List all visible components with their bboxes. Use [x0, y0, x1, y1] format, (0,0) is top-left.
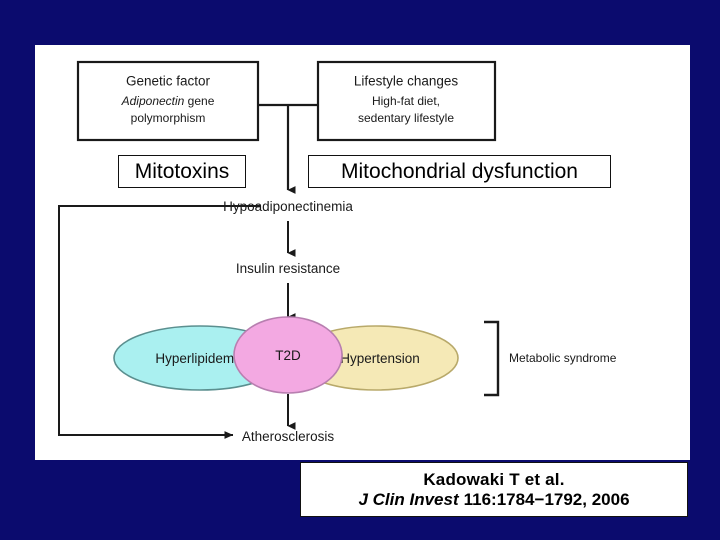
genetic-factor-gene-italic: Adiponectin — [121, 94, 185, 108]
citation-volume-pages-year: 116:1784−1792, 2006 — [464, 490, 630, 510]
feedback-loop-arrow — [59, 206, 260, 435]
slide-canvas: Genetic factor Adiponectin gene polymorp… — [0, 0, 720, 540]
citation-journal-name: J Clin Invest — [358, 490, 458, 510]
genetic-factor-gene-rest: gene — [184, 94, 214, 108]
node-insulin-resistance: Insulin resistance — [236, 261, 340, 276]
t2d-ellipse: T2D — [234, 317, 342, 393]
metabolic-syndrome-bracket — [484, 322, 498, 395]
metabolic-syndrome-bracket-group: Metabolic syndrome — [484, 322, 617, 395]
genetic-factor-heading: Genetic factor — [126, 74, 211, 89]
hypertension-label: Hypertension — [340, 351, 420, 366]
mitochondrial-dysfunction-callout-box[interactable]: Mitochondrial dysfunction — [308, 155, 611, 188]
lifestyle-changes-heading: Lifestyle changes — [354, 74, 459, 89]
pathway-diagram: Genetic factor Adiponectin gene polymorp… — [35, 45, 690, 460]
citation-box: Kadowaki T et al. J Clin Invest 116:1784… — [300, 462, 688, 517]
mitochondrial-dysfunction-label: Mitochondrial dysfunction — [341, 161, 578, 182]
metabolic-syndrome-label: Metabolic syndrome — [509, 351, 617, 365]
hyperlipidemia-label: Hyperlipidemia — [155, 351, 245, 366]
genetic-factor-box: Genetic factor Adiponectin gene polymorp… — [78, 62, 258, 140]
genetic-factor-line3: polymorphism — [131, 111, 206, 125]
citation-authors: Kadowaki T et al. — [423, 470, 564, 490]
mitotoxins-label: Mitotoxins — [135, 161, 230, 182]
t2d-label: T2D — [275, 348, 301, 363]
lifestyle-changes-line2: High-fat diet, — [372, 94, 440, 108]
citation-reference-line: J Clin Invest 116:1784−1792, 2006 — [358, 490, 629, 510]
lifestyle-changes-line3: sedentary lifestyle — [358, 111, 454, 125]
node-atherosclerosis: Atherosclerosis — [242, 429, 335, 444]
lifestyle-changes-box: Lifestyle changes High-fat diet, sedenta… — [318, 62, 495, 140]
figure-panel: Genetic factor Adiponectin gene polymorp… — [35, 45, 690, 460]
genetic-factor-line2: Adiponectin gene — [121, 94, 215, 108]
mitotoxins-callout-box[interactable]: Mitotoxins — [118, 155, 246, 188]
